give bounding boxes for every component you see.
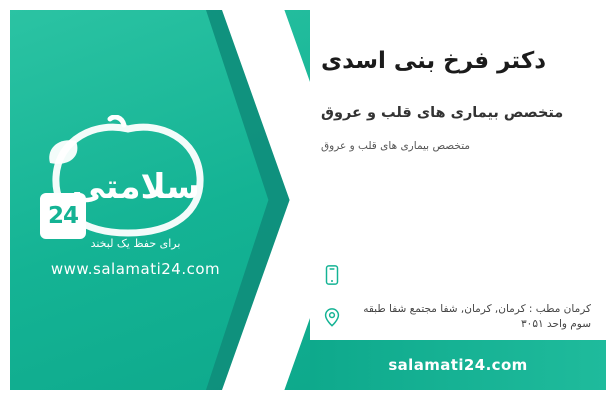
doctor-specialty-secondary: متخصص بیماری های قلب و عروق [321, 140, 591, 152]
location-pin-icon [319, 304, 345, 330]
footer-bar: salamati24.com [310, 340, 606, 390]
card-content: دکتر فرخ بنی اسدی متخصص بیماری های قلب و… [310, 10, 606, 390]
logo-url: www.salamati24.com [28, 260, 243, 278]
address-row: کرمان مطب : کرمان, کرمان, شفا مجتمع شفا … [319, 302, 591, 332]
business-card: 24 سلامتی برای حفظ یک لبخند www.salamati… [0, 0, 616, 400]
logo: 24 سلامتی برای حفظ یک لبخند www.salamati… [28, 115, 258, 285]
doctor-name: دکتر فرخ بنی اسدی [321, 48, 591, 74]
footer-site: salamati24.com [388, 356, 527, 374]
address-text: کرمان مطب : کرمان, کرمان, شفا مجتمع شفا … [353, 302, 591, 332]
phone-icon [319, 262, 345, 288]
doctor-specialty: متخصص بیماری های قلب و عروق [321, 105, 591, 121]
phone-row [319, 262, 591, 288]
card-inner: 24 سلامتی برای حفظ یک لبخند www.salamati… [10, 10, 606, 390]
logo-script-text: سلامتی [48, 167, 223, 207]
logo-tagline: برای حفظ یک لبخند [28, 237, 243, 250]
